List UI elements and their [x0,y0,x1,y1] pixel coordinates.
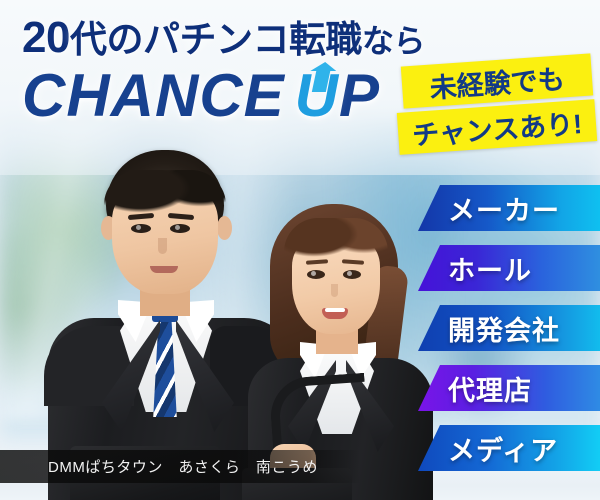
caption-bar: DMMぱちタウン あさくら 南こうめ [0,450,360,483]
category-tag-list: メーカー ホール 開発会社 代理店 メディア [418,185,600,471]
category-tag-media[interactable]: メディア [418,425,600,471]
caption-text: DMMぱちタウン あさくら 南こうめ [0,456,318,477]
category-tag-agency[interactable]: 代理店 [418,365,600,411]
people-photo-group [0,130,430,500]
chance-up-logo: CHANCEUP [22,66,380,126]
woman-mouth [322,308,348,319]
woman-hair-fringe [284,218,388,264]
category-tag-media-label: メディア [448,429,558,468]
logo-word-up: UP [295,66,380,126]
category-tag-development-company[interactable]: 開発会社 [418,305,600,351]
man-nose [158,238,167,254]
man-ear-right [217,216,232,240]
headline-text-suffix: なら [362,23,425,59]
recruitment-banner: 20代のパチンコ転職なら CHANCEUP 未経験でも チャンスあり! メーカー… [0,0,600,500]
logo-letter-p: P [339,62,380,129]
logo-word-chance: CHANCE [22,62,285,129]
headline: 20代のパチンコ転職なら [22,16,425,60]
headline-number: 20 [22,13,70,62]
woman-eye-left [307,270,325,279]
man-hair-fringe [104,170,226,218]
man-eye-left [131,224,151,233]
woman-nose [331,284,338,297]
category-tag-agency-label: 代理店 [448,369,532,408]
badge-no-experience-label: 未経験でも [428,57,565,105]
man-mouth [150,266,178,273]
woman-eye-right [343,270,361,279]
category-tag-hall-label: ホール [448,249,532,288]
man-eye-right [170,224,190,233]
category-tag-maker-label: メーカー [448,189,560,228]
category-tag-maker[interactable]: メーカー [418,185,600,231]
headline-text-main: 代のパチンコ転職 [70,19,362,60]
category-tag-hall[interactable]: ホール [418,245,600,291]
category-tag-development-company-label: 開発会社 [448,309,560,348]
